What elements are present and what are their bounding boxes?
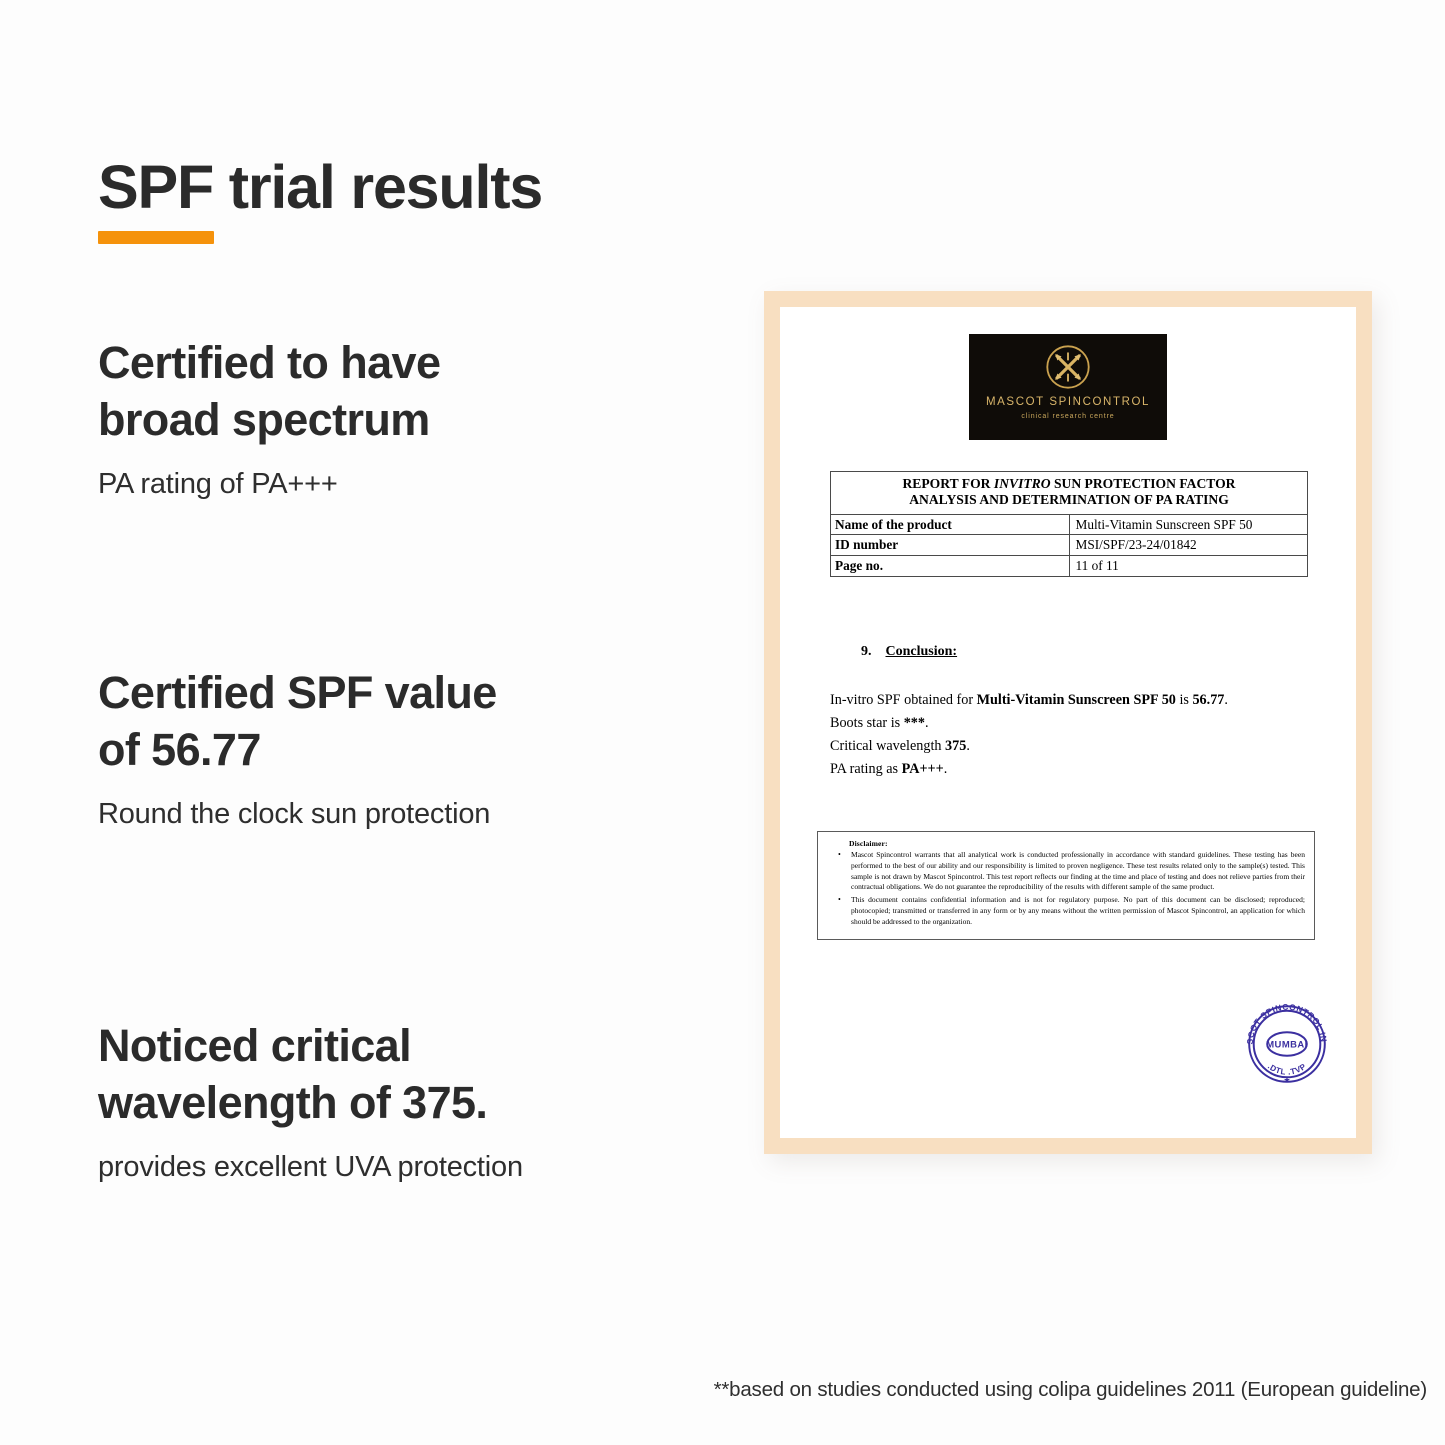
line2-pre: Boots star is [830,715,904,731]
fact-subtext: Round the clock sun protection [98,796,497,834]
line3-pre: Critical wavelength [830,738,945,754]
logo-company-name: MASCOT SPINCONTROL [986,396,1150,408]
conclusion-label: Conclusion: [886,644,958,659]
row-value: Multi-Vitamin Sunscreen SPF 50 [1069,514,1308,535]
svg-text:MASCOT SPINCONTROL INDIA: MASCOT SPINCONTROL INDIA [1240,999,1328,1045]
table-row: ID number MSI/SPF/23-24/01842 [831,535,1308,556]
certificate-page: MASCOT SPINCONTROL clinical research cen… [780,307,1356,1138]
line1-product: Multi-Vitamin Sunscreen SPF 50 [977,692,1176,708]
line1-end: . [1224,692,1228,708]
official-stamp: MASCOT SPINCONTROL INDIA .DTL .TVP MUMBA… [1240,999,1334,1089]
row-label: Name of the product [831,514,1070,535]
line1-pre: In-vitro SPF obtained for [830,692,977,708]
crossed-arrows-emblem-icon [1045,344,1091,390]
line1-mid: is [1176,692,1193,708]
page-title: SPF trial results [98,153,542,221]
svg-text:MUMBAI: MUMBAI [1266,1040,1308,1051]
report-title-line2: ANALYSIS AND DETERMINATION OF PA RATING [909,492,1229,507]
row-label: Page no. [831,556,1070,577]
line3-wavelength-value: 375 [945,738,966,754]
conclusion-line-boots: Boots star is ***. [830,712,1310,735]
report-title-pre: REPORT FOR [902,476,993,491]
conclusion-heading: 9.Conclusion: [861,644,957,660]
conclusion-body: In-vitro SPF obtained for Multi-Vitamin … [830,689,1310,781]
fact-subtext: provides excellent UVA protection [98,1149,523,1187]
line2-end: . [925,715,929,731]
conclusion-line-wavelength: Critical wavelength 375. [830,735,1310,758]
conclusion-number: 9. [861,644,872,659]
conclusion-line-pa: PA rating as PA+++. [830,758,1310,781]
row-value: 11 of 11 [1069,556,1308,577]
table-row-title: REPORT FOR INVITRO SUN PROTECTION FACTOR… [831,472,1308,515]
mascot-spincontrol-logo: MASCOT SPINCONTROL clinical research cen… [969,334,1167,440]
conclusion-line-spf: In-vitro SPF obtained for Multi-Vitamin … [830,689,1310,712]
line4-pre: PA rating as [830,761,902,777]
disclaimer-box: Disclaimer: Mascot Spincontrol warrants … [817,831,1315,940]
report-title-cell: REPORT FOR INVITRO SUN PROTECTION FACTOR… [831,472,1308,515]
fact-block-broad-spectrum: Certified to have broad spectrum PA rati… [98,335,440,504]
disclaimer-title: Disclaimer: [849,839,1305,848]
line4-end: . [944,761,948,777]
row-label: ID number [831,535,1070,556]
table-row: Name of the product Multi-Vitamin Sunscr… [831,514,1308,535]
certificate-document-frame: MASCOT SPINCONTROL clinical research cen… [764,291,1372,1154]
svg-text:★: ★ [1283,1076,1290,1085]
accent-underline-bar [98,231,214,244]
fact-heading: Certified SPF value of 56.77 [98,665,497,778]
line2-boots-value: *** [904,715,925,731]
fact-subtext: PA rating of PA+++ [98,466,440,504]
logo-tagline: clinical research centre [1021,413,1114,420]
line4-pa-value: PA+++ [902,761,944,777]
fact-block-spf-value: Certified SPF value of 56.77 Round the c… [98,665,497,834]
list-item: Mascot Spincontrol warrants that all ana… [851,850,1305,893]
report-title-italic: INVITRO [994,476,1051,491]
report-title-post: SUN PROTECTION FACTOR [1051,476,1236,491]
fact-block-critical-wavelength: Noticed critical wavelength of 375. prov… [98,1018,523,1187]
table-row: Page no. 11 of 11 [831,556,1308,577]
fact-heading: Certified to have broad spectrum [98,335,440,448]
row-value: MSI/SPF/23-24/01842 [1069,535,1308,556]
disclaimer-list: Mascot Spincontrol warrants that all ana… [827,850,1305,928]
line1-spf-value: 56.77 [1192,692,1224,708]
fact-heading: Noticed critical wavelength of 375. [98,1018,523,1131]
footnote-text: **based on studies conducted using colip… [714,1378,1427,1402]
report-header-table: REPORT FOR INVITRO SUN PROTECTION FACTOR… [830,471,1308,577]
line3-end: . [966,738,970,754]
list-item: This document contains confidential info… [851,895,1305,927]
